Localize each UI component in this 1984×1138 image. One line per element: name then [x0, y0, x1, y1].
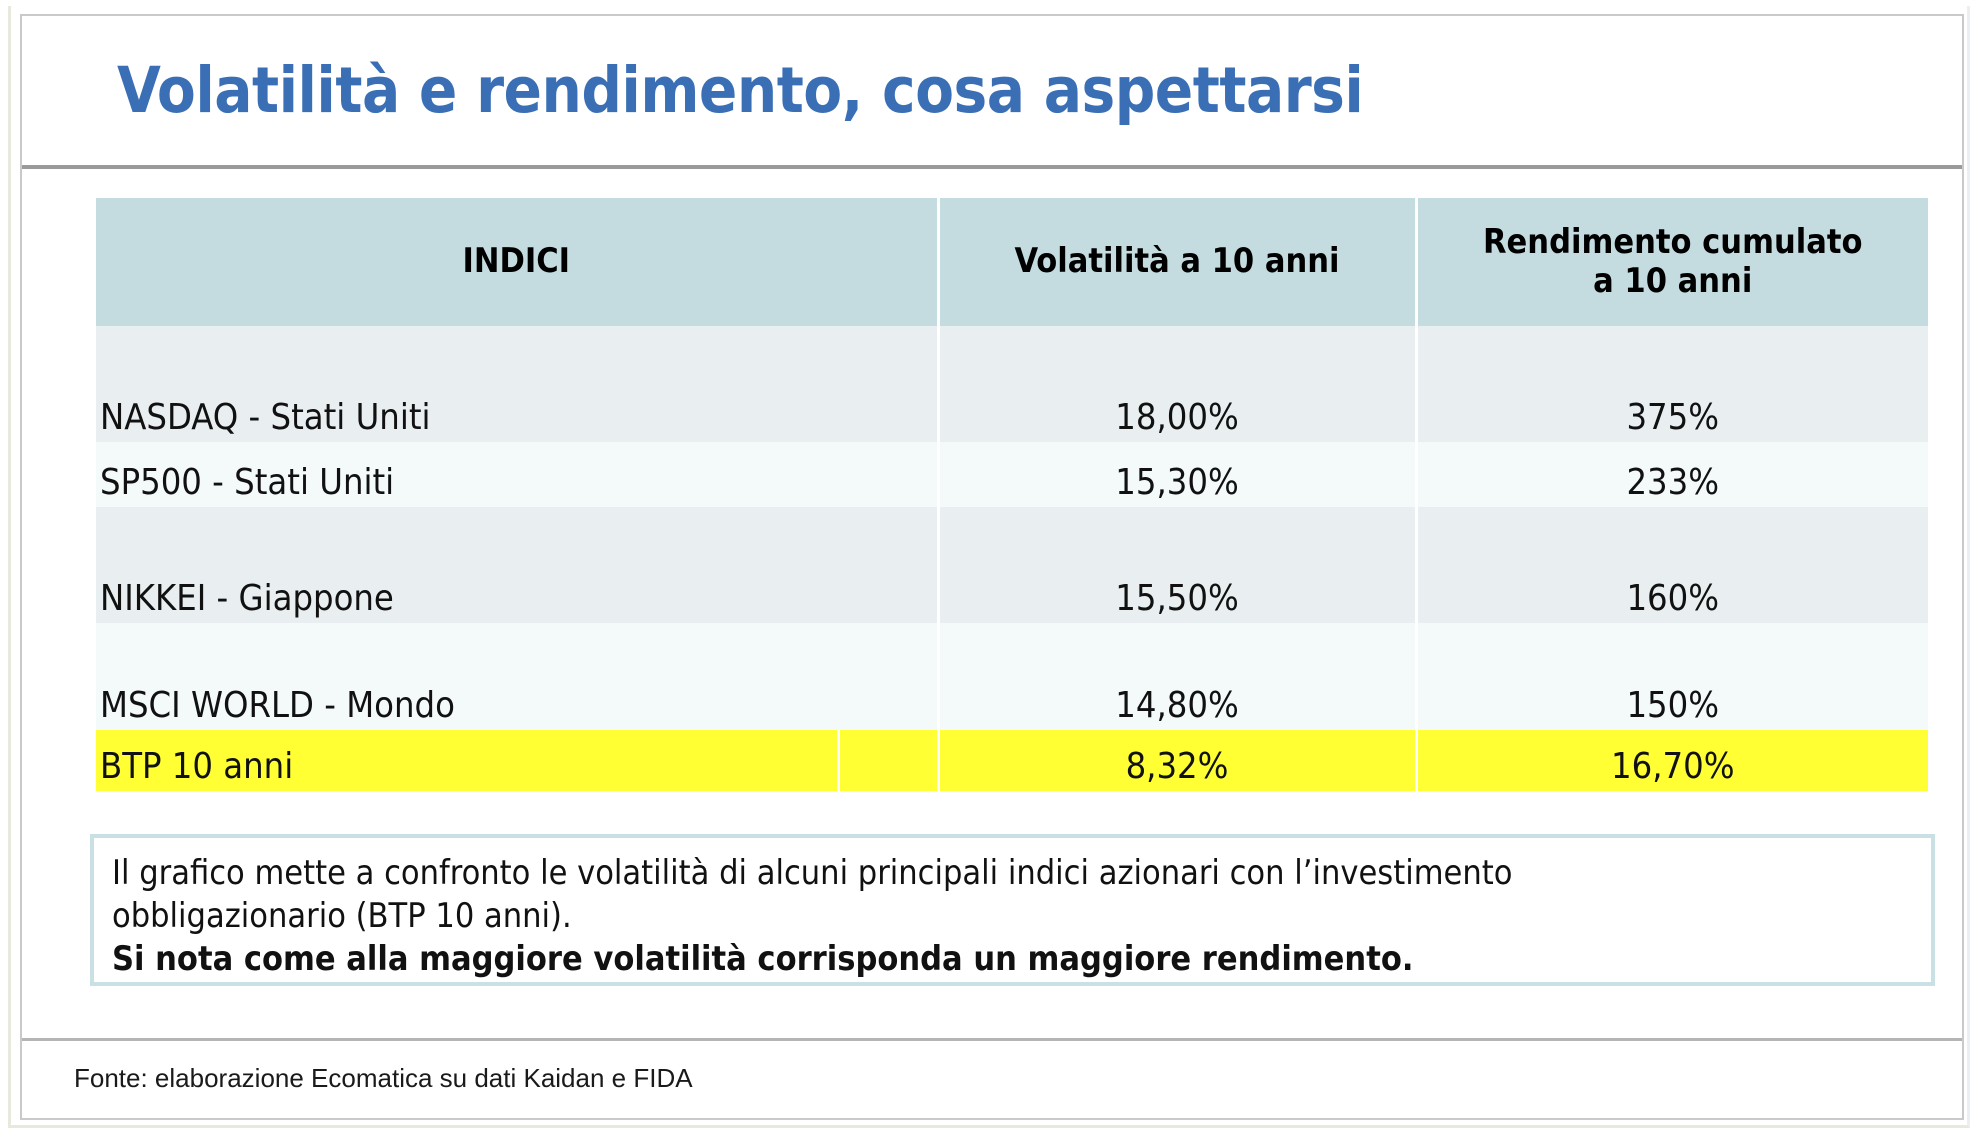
cell-volatility: 15,30%: [938, 442, 1416, 507]
cell-return: 233%: [1416, 442, 1928, 507]
cell-return: 150%: [1416, 623, 1928, 730]
table-row[interactable]: MSCI WORLD - Mondo 14,80% 150%: [96, 623, 1928, 730]
table-row[interactable]: SP500 - Stati Uniti 15,30% 233%: [96, 442, 1928, 507]
cell-volatility: 18,00%: [938, 326, 1416, 442]
footer-divider: [22, 1038, 1962, 1041]
title-band: Volatilità e rendimento, cosa aspettarsi: [22, 16, 1962, 169]
cell-return: 160%: [1416, 507, 1928, 623]
footer-source: Fonte: elaborazione Ecomatica su dati Ka…: [74, 1063, 693, 1094]
note-line-1: Il grafico mette a confronto le volatili…: [112, 852, 1913, 895]
column-header-volatilita: Volatilità a 10 anni: [938, 198, 1416, 326]
cell-index-name: NASDAQ - Stati Uniti: [96, 326, 938, 442]
cell-index-name: BTP 10 anni: [96, 730, 838, 791]
table-row[interactable]: NIKKEI - Giappone 15,50% 160%: [96, 507, 1928, 623]
note-box: Il grafico mette a confronto le volatili…: [90, 834, 1935, 986]
indices-table-wrapper: INDICI Volatilità a 10 anni Rendimento c…: [96, 198, 1928, 791]
table-header: INDICI Volatilità a 10 anni Rendimento c…: [96, 198, 1928, 326]
slide-canvas: Volatilità e rendimento, cosa aspettarsi…: [20, 14, 1964, 1120]
cell-index-name: SP500 - Stati Uniti: [96, 442, 938, 507]
cell-spacer: [838, 730, 938, 791]
column-header-indici: INDICI: [96, 198, 938, 326]
cell-volatility: 15,50%: [938, 507, 1416, 623]
cell-volatility: 14,80%: [938, 623, 1416, 730]
indices-table: INDICI Volatilità a 10 anni Rendimento c…: [96, 198, 1928, 791]
column-header-rendimento: Rendimento cumulato a 10 anni: [1416, 198, 1928, 326]
page-title: Volatilità e rendimento, cosa aspettarsi: [117, 54, 1363, 127]
table-header-row: INDICI Volatilità a 10 anni Rendimento c…: [96, 198, 1928, 326]
table-row-highlighted[interactable]: BTP 10 anni 8,32% 16,70%: [96, 730, 1928, 791]
slide-frame: Volatilità e rendimento, cosa aspettarsi…: [8, 6, 1970, 1128]
cell-index-name: NIKKEI - Giappone: [96, 507, 938, 623]
cell-index-name: MSCI WORLD - Mondo: [96, 623, 938, 730]
table-row[interactable]: NASDAQ - Stati Uniti 18,00% 375%: [96, 326, 1928, 442]
table-body: NASDAQ - Stati Uniti 18,00% 375% SP500 -…: [96, 326, 1928, 791]
cell-volatility: 8,32%: [938, 730, 1416, 791]
cell-return: 375%: [1416, 326, 1928, 442]
column-header-rendimento-line2: a 10 anni: [1593, 261, 1752, 301]
note-line-3-emphasis: Si nota come alla maggiore volatilità co…: [112, 938, 1913, 981]
note-line-2: obbligazionario (BTP 10 anni).: [112, 895, 1913, 938]
cell-return: 16,70%: [1416, 730, 1928, 791]
column-header-rendimento-line1: Rendimento cumulato: [1483, 222, 1862, 262]
